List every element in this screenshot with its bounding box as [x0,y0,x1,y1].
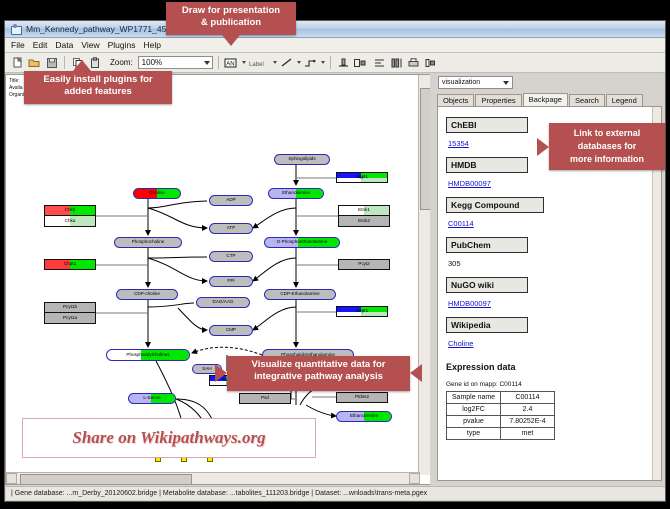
node-label: DAG/AAG [213,300,234,305]
tab-objects[interactable]: Objects [437,94,474,106]
db-link-chebi[interactable]: 15354 [448,139,469,148]
layout-icon[interactable] [423,55,438,70]
status-text: | Gene database: ...m_Derby_20120602.bri… [11,490,427,497]
datanode-icon[interactable]: AN [224,55,239,70]
gene-label: Chka [65,219,76,224]
row-value: 2.4 [501,404,555,416]
scroll-thumb[interactable] [20,474,192,485]
node-label: SAH [202,367,211,372]
node-label: PPi [227,279,234,284]
gene-id-line: Gene id on mapp: C00114 [446,381,646,388]
canvas-horizontal-scrollbar[interactable] [6,472,420,484]
row-value: met [501,428,555,440]
gene-label: Chkb [65,208,76,213]
gene-chpt1[interactable]: Chpt1 [44,259,96,270]
node-label: CMP [226,328,236,333]
node-label: Ethanolamine [350,414,378,419]
gene-label: Ptdss2 [355,395,369,400]
callout-link-line3: more information [549,153,665,166]
callout-plugins-pointer [73,60,91,71]
callout-draw-pointer [222,35,240,46]
svg-text:Label: Label [249,62,264,68]
zoom-label: Zoom: [110,58,133,67]
table-row: pvalue 7.80252E-4 [447,416,555,428]
callout-link-line1: Link to external [549,127,665,140]
callout-link-pointer [537,138,549,156]
callout-plugins-line1: Easily install plugins for [24,74,172,86]
node-label: CTP [226,254,235,259]
menu-bar: File Edit Data View Plugins Help [5,38,665,53]
side-panel-tabs: Objects Properties Backpage Search Legen… [437,93,662,106]
gene-label: Pcyt1b [63,305,77,310]
node-o-phosphoethanolamine[interactable]: O-Phosphoethanolamine [264,237,340,248]
node-label: Choline [149,191,165,196]
menu-item-data[interactable]: Data [55,40,73,50]
gene-chkb[interactable]: Chkb [44,205,96,216]
gene-label: Pcyt2 [358,262,370,267]
gene-label: Sgpl1 [356,175,368,180]
db-link-wikipedia[interactable]: Choline [448,339,473,348]
node-label: ADP [226,198,235,203]
callout-link-line2: databases for [549,140,665,153]
node-adp[interactable]: ADP [209,195,253,206]
distribute-icon[interactable] [389,55,404,70]
node-l-serine-left[interactable]: L-Serine [128,393,176,404]
node-sphingolipids[interactable]: Sphingolipids [274,154,330,165]
db-link-kegg[interactable]: C00114 [448,219,474,228]
chevron-down-icon-datanode[interactable] [242,61,246,64]
db-header-wikipedia: Wikipedia [446,317,528,333]
gene-pcyt1b[interactable]: Pcyt1b [44,302,96,313]
menu-item-help[interactable]: Help [144,40,161,50]
node-choline-top[interactable]: Choline [133,188,181,199]
toolbar: Zoom: 100% AN Label [5,53,665,73]
scroll-left-button[interactable] [6,473,17,484]
scroll-thumb[interactable] [420,88,430,210]
svg-text:AN: AN [226,61,234,67]
callout-draw-line2: & publication [166,17,296,29]
menu-item-view[interactable]: View [81,40,99,50]
chevron-down-icon-line[interactable] [297,61,301,64]
chevron-down-icon-label[interactable] [273,61,277,64]
gene-ptdss2[interactable]: Ptdss2 [336,392,388,403]
chevron-down-icon-connector[interactable] [321,61,325,64]
tab-properties[interactable]: Properties [475,94,521,106]
node-label: ATP [227,226,236,231]
row-key: pvalue [447,416,501,428]
row-key: log2FC [447,404,501,416]
table-row: log2FC 2.4 [447,404,555,416]
menu-item-edit[interactable]: Edit [33,40,48,50]
node-label: CDP-Ethanolamine [280,292,319,297]
align-icon[interactable] [336,55,351,70]
row-key: Sample name [447,392,501,404]
row-key: type [447,428,501,440]
tab-search[interactable]: Search [569,94,605,106]
gene-psd[interactable]: Psd [239,393,291,404]
canvas-vertical-scrollbar[interactable] [418,75,430,475]
row-value: C00114 [501,392,555,404]
node-cmp[interactable]: CMP [209,325,253,336]
node-ppi[interactable]: PPi [209,276,253,287]
callout-visualize-pointer-right [410,364,422,382]
callout-visualize-pointer [215,364,227,382]
print-icon[interactable] [406,55,421,70]
callout-share: Share on Wikipathways.org [22,418,316,458]
zoom-combo[interactable]: 100% [138,56,213,69]
node-atp[interactable]: ATP [209,223,253,234]
callout-visualize-line2: integrative pathway analysis [227,371,410,383]
expression-table: Sample name C00114 log2FC 2.4 pvalue 7.8… [446,391,555,440]
label-icon[interactable]: Label [248,55,270,70]
db-header-kegg: Kegg Compound [446,197,544,213]
gene-label: Pcyt1a [63,316,77,321]
gene-label: Etnk1 [358,208,370,213]
node-label: L-Serine [143,396,160,401]
node-dag-aag[interactable]: DAG/AAG [196,297,250,308]
title-bar: Mm_Kennedy_pathway_WP1771_45176.gpml [5,21,665,38]
tab-legend[interactable]: Legend [606,94,643,106]
scroll-right-button[interactable] [409,473,420,484]
node-ethanolamine-top[interactable]: Ethanolamine [268,188,324,199]
node-label: Sphingolipids [288,157,315,162]
db-header-hmdb: HMDB [446,157,528,173]
callout-link: Link to external databases for more info… [549,123,665,170]
toolbar-divider-3 [330,56,331,69]
db-header-pubchem: PubChem [446,237,528,253]
db-header-nugowiki: NuGO wiki [446,277,528,293]
callout-draw-line1: Draw for presentation [166,5,296,17]
toolbar-divider-2 [218,56,219,69]
db-value-pubchem: 305 [448,259,461,268]
gene-label: Cept1 [356,309,368,314]
expression-data-title: Expression data [446,362,646,372]
node-label: Phosphocholine [132,240,165,245]
callout-draw: Draw for presentation & publication [166,2,296,35]
callout-plugins: Easily install plugins for added feature… [24,71,172,104]
chevron-down-icon [503,81,509,85]
node-label: CDP-choline [134,292,160,297]
node-cdp-ethanolamine[interactable]: CDP-Ethanolamine [264,289,336,300]
gene-chka[interactable]: Chka [44,216,96,227]
node-cdp-choline[interactable]: CDP-choline [116,289,178,300]
gene-etnk2[interactable]: Etnk2 [338,216,390,227]
db-link-nugowiki[interactable]: HMDB00097 [448,299,491,308]
visualization-combo[interactable]: visualization [438,76,513,89]
node-ethanolamine-bottom[interactable]: Ethanolamine [336,411,392,422]
menu-item-file[interactable]: File [11,40,25,50]
open-folder-icon[interactable] [27,55,42,70]
gene-label: Chpt1 [64,262,76,267]
screenshot-root: Mm_Kennedy_pathway_WP1771_45176.gpml Fil… [0,0,670,509]
db-header-chebi: ChEBI [446,117,528,133]
node-phosphocholine[interactable]: Phosphocholine [114,237,182,248]
row-value: 7.80252E-4 [501,416,555,428]
node-label: Ethanolamine [282,191,310,196]
connector-icon[interactable] [303,55,318,70]
chevron-down-icon [204,61,210,65]
callout-plugins-line2: added features [24,86,172,98]
visualization-value: visualization [442,79,480,86]
node-label: O-Phosphoethanolamine [277,240,328,245]
gene-pcyt2[interactable]: Pcyt2 [338,259,390,270]
share-text: Share on Wikipathways.org [72,428,265,448]
node-ctp[interactable]: CTP [209,251,253,262]
gene-pcyt1a[interactable]: Pcyt1a [44,313,96,324]
save-icon[interactable] [44,55,59,70]
application-icon [10,24,21,35]
tab-backpage[interactable]: Backpage [523,93,568,107]
new-file-icon[interactable] [10,55,25,70]
order-icon[interactable] [372,55,387,70]
gene-label: Etnk2 [358,219,370,224]
db-link-hmdb[interactable]: HMDB00097 [448,179,491,188]
node-phosphatidylcholines[interactable]: Phosphatidylcholines [106,349,190,361]
table-row: type met [447,428,555,440]
gene-label: Psd [261,396,269,401]
table-row: Sample name C00114 [447,392,555,404]
gene-cept1[interactable]: Cept1 [336,306,388,317]
line-icon[interactable] [279,55,294,70]
gene-sgpl1[interactable]: Sgpl1 [336,172,388,183]
node-label: Phosphatidylcholines [126,353,169,358]
menu-item-plugins[interactable]: Plugins [108,40,136,50]
status-bar: | Gene database: ...m_Derby_20120602.bri… [6,486,665,500]
gene-etnk1[interactable]: Etnk1 [338,205,390,216]
group-icon[interactable] [353,55,370,70]
toolbar-divider [64,56,65,69]
callout-visualize: Visualize quantitative data for integrat… [227,356,410,391]
callout-visualize-line1: Visualize quantitative data for [227,359,410,371]
zoom-value: 100% [142,58,162,67]
